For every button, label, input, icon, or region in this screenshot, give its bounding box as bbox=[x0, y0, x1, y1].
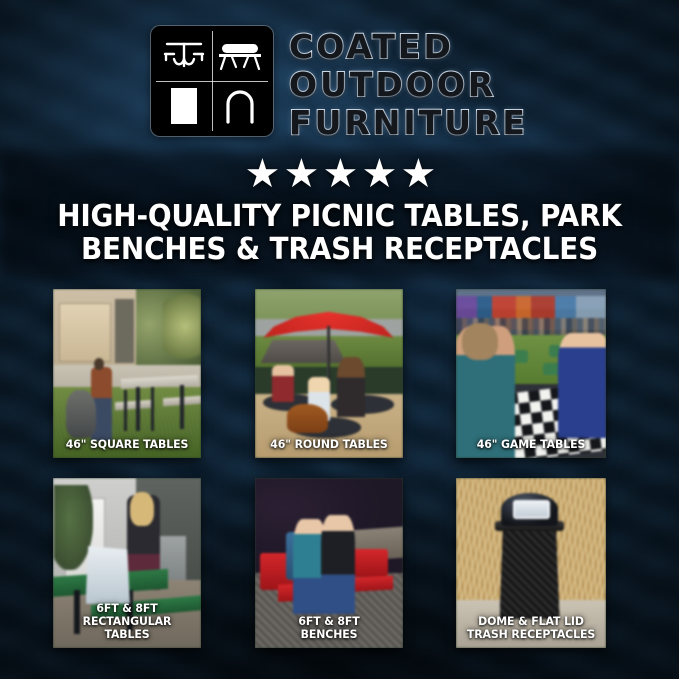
product-label-line-1: 46" ROUND TABLES bbox=[261, 438, 396, 451]
product-photo-round-tables bbox=[255, 289, 403, 458]
product-label-line-1: 46" SQUARE TABLES bbox=[60, 438, 195, 451]
product-tile-rectangular-tables[interactable]: 6FT & 8FT RECTANGULAR TABLES bbox=[53, 478, 201, 648]
star-icon-1: ★ bbox=[245, 158, 279, 191]
product-tile-label: 46" ROUND TABLES bbox=[258, 438, 399, 451]
product-tile-benches[interactable]: 6FT & 8FT BENCHES bbox=[255, 478, 403, 648]
product-tile-label: 46" SQUARE TABLES bbox=[57, 438, 198, 451]
star-icon-3: ★ bbox=[323, 158, 357, 191]
headline: HIGH-QUALITY PICNIC TABLES, PARK BENCHES… bbox=[50, 200, 629, 266]
product-photo-square-tables bbox=[53, 289, 201, 458]
park-bench-icon bbox=[212, 31, 268, 81]
brand-line-1: COATED bbox=[289, 28, 454, 66]
star-icon-5: ★ bbox=[401, 158, 435, 191]
logo-mark bbox=[151, 26, 273, 136]
bike-rack-loop-icon bbox=[212, 81, 268, 131]
star-icon-4: ★ bbox=[362, 158, 396, 191]
product-tile-game-tables[interactable]: 46" GAME TABLES bbox=[456, 289, 606, 458]
brand-logo: COATED OUTDOOR FURNITURE bbox=[0, 26, 679, 142]
headline-line-2: BENCHES & TRASH RECEPTACLES bbox=[50, 233, 629, 266]
product-photo-game-tables bbox=[456, 289, 606, 458]
headline-line-1: HIGH-QUALITY PICNIC TABLES, PARK bbox=[57, 199, 622, 234]
product-tile-square-tables[interactable]: 46" SQUARE TABLES bbox=[53, 289, 201, 458]
product-label-line-1: 46" GAME TABLES bbox=[463, 438, 600, 451]
picnic-table-icon bbox=[156, 31, 212, 81]
product-tile-label: 6FT & 8FT BENCHES bbox=[258, 615, 399, 641]
product-label-line-2: RECTANGULAR TABLES bbox=[60, 615, 195, 641]
product-tile-trash-receptacles[interactable]: DOME & FLAT LID TRASH RECEPTACLES bbox=[456, 478, 606, 648]
trash-receptacle-icon bbox=[156, 81, 212, 131]
product-tile-round-tables[interactable]: 46" ROUND TABLES bbox=[255, 289, 403, 458]
brand-line-2: OUTDOOR bbox=[289, 66, 496, 104]
product-banner: COATED OUTDOOR FURNITURE ★ ★ ★ ★ ★ HIGH-… bbox=[0, 0, 679, 679]
star-icon-2: ★ bbox=[284, 158, 318, 191]
product-grid: 46" SQUARE TABLES bbox=[53, 289, 606, 648]
product-tile-label: DOME & FLAT LID TRASH RECEPTACLES bbox=[460, 615, 603, 641]
product-label-line-2: BENCHES bbox=[261, 628, 396, 641]
product-tile-label: 6FT & 8FT RECTANGULAR TABLES bbox=[57, 602, 198, 641]
star-rating: ★ ★ ★ ★ ★ bbox=[0, 158, 679, 191]
product-label-line-2: TRASH RECEPTACLES bbox=[463, 628, 600, 641]
brand-line-3: FURNITURE bbox=[289, 104, 528, 142]
brand-wordmark: COATED OUTDOOR FURNITURE bbox=[289, 26, 528, 142]
product-tile-label: 46" GAME TABLES bbox=[460, 438, 603, 451]
